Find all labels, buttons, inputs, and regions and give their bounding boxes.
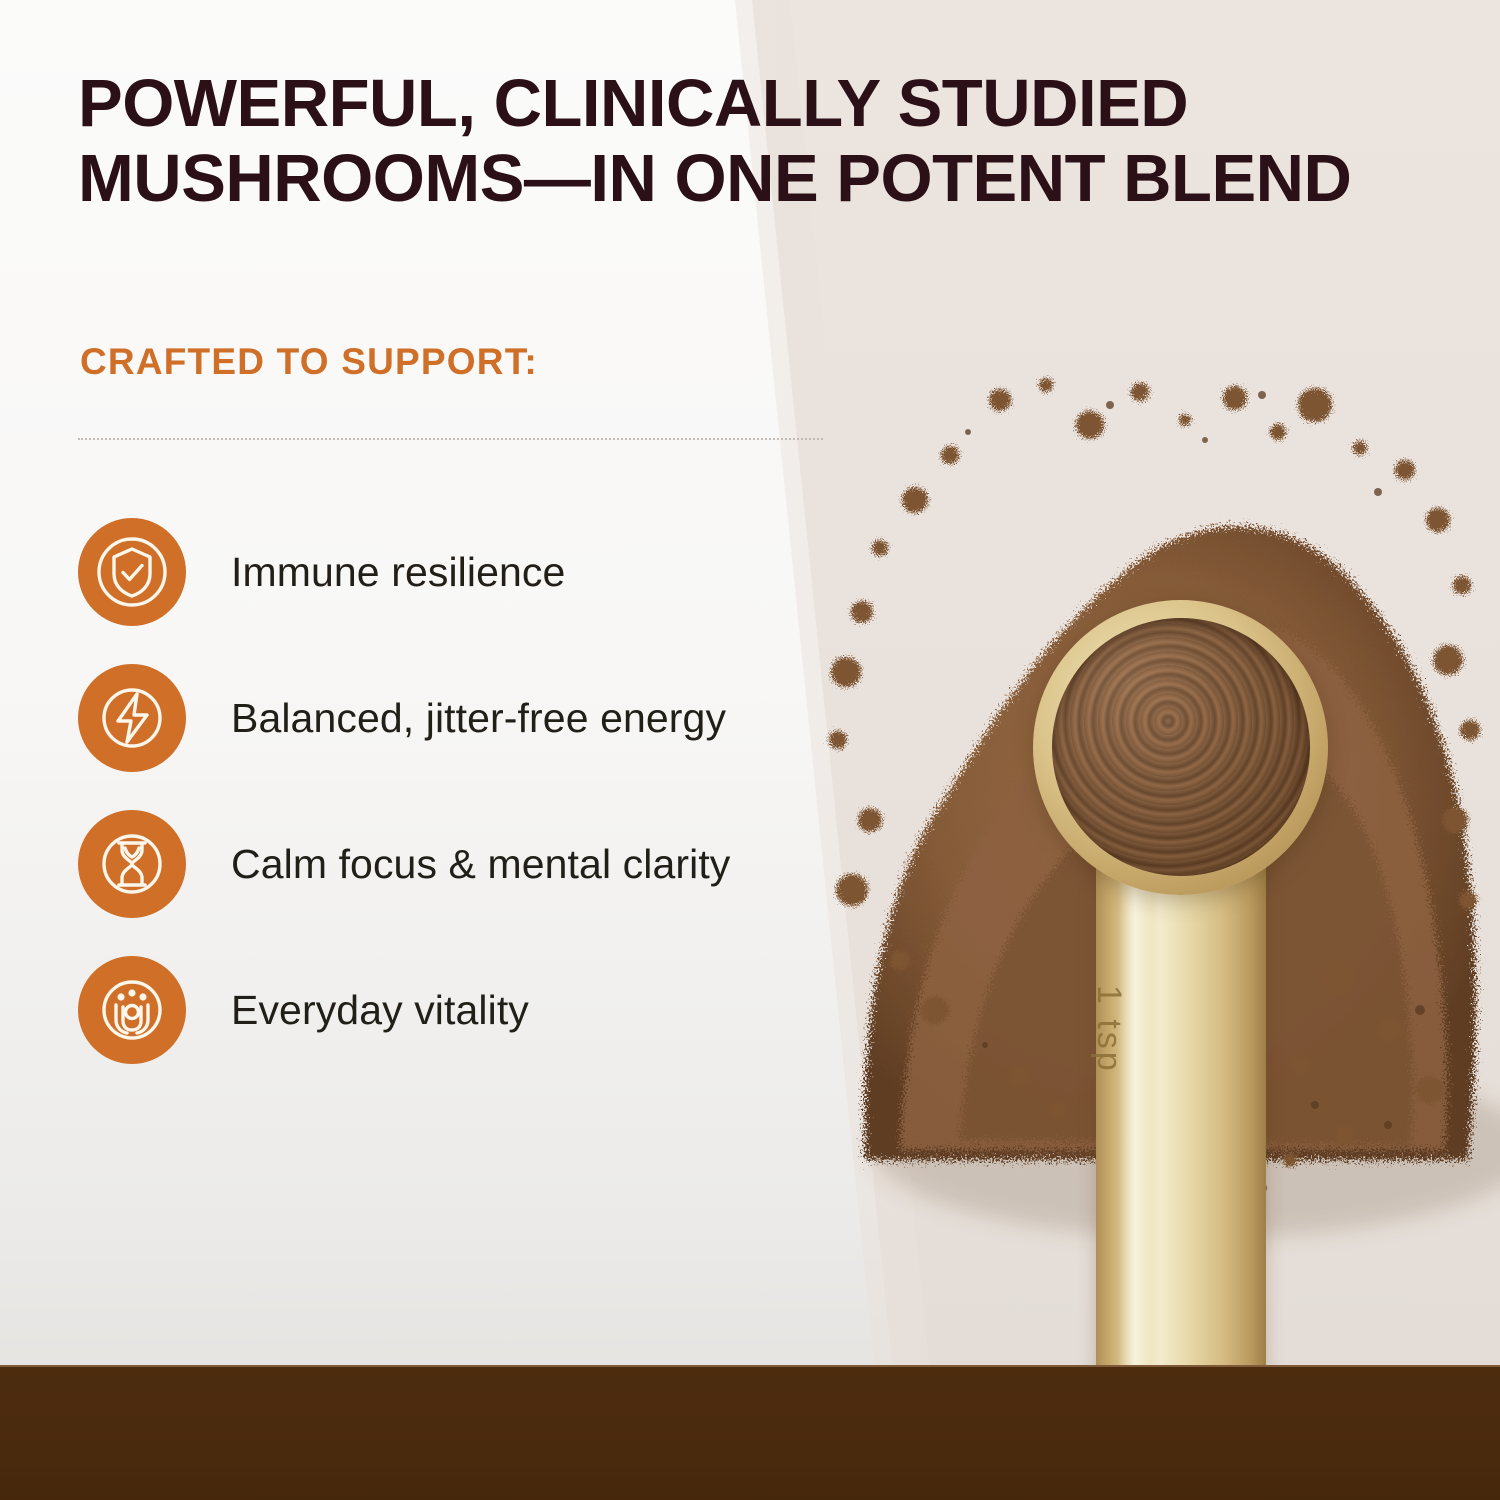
page-title: POWERFUL, CLINICALLY STUDIED MUSHROOMS—I… xyxy=(78,66,1388,216)
bottom-brown-band xyxy=(0,1365,1500,1500)
shield-check-icon xyxy=(78,518,186,626)
benefit-label: Calm focus & mental clarity xyxy=(231,841,730,888)
divider xyxy=(78,438,823,440)
list-item: Immune resilience xyxy=(78,518,878,626)
benefit-label: Immune resilience xyxy=(231,549,565,596)
benefit-label: Everyday vitality xyxy=(231,987,529,1034)
list-item: Calm focus & mental clarity xyxy=(78,810,878,918)
list-item: Balanced, jitter-free energy xyxy=(78,664,878,772)
benefits-list: Immune resilience Balanced, jitter-free … xyxy=(78,518,878,1102)
list-item: Everyday vitality xyxy=(78,956,878,1064)
subheading: CRAFTED TO SUPPORT: xyxy=(80,341,538,383)
product-infographic: 1 tsp POWERFUL, CLINICALLY STUDIED MUSHR… xyxy=(0,0,1500,1500)
hands-vitality-icon xyxy=(78,956,186,1064)
lightning-bolt-icon xyxy=(78,664,186,772)
hourglass-icon xyxy=(78,810,186,918)
benefit-label: Balanced, jitter-free energy xyxy=(231,695,726,742)
